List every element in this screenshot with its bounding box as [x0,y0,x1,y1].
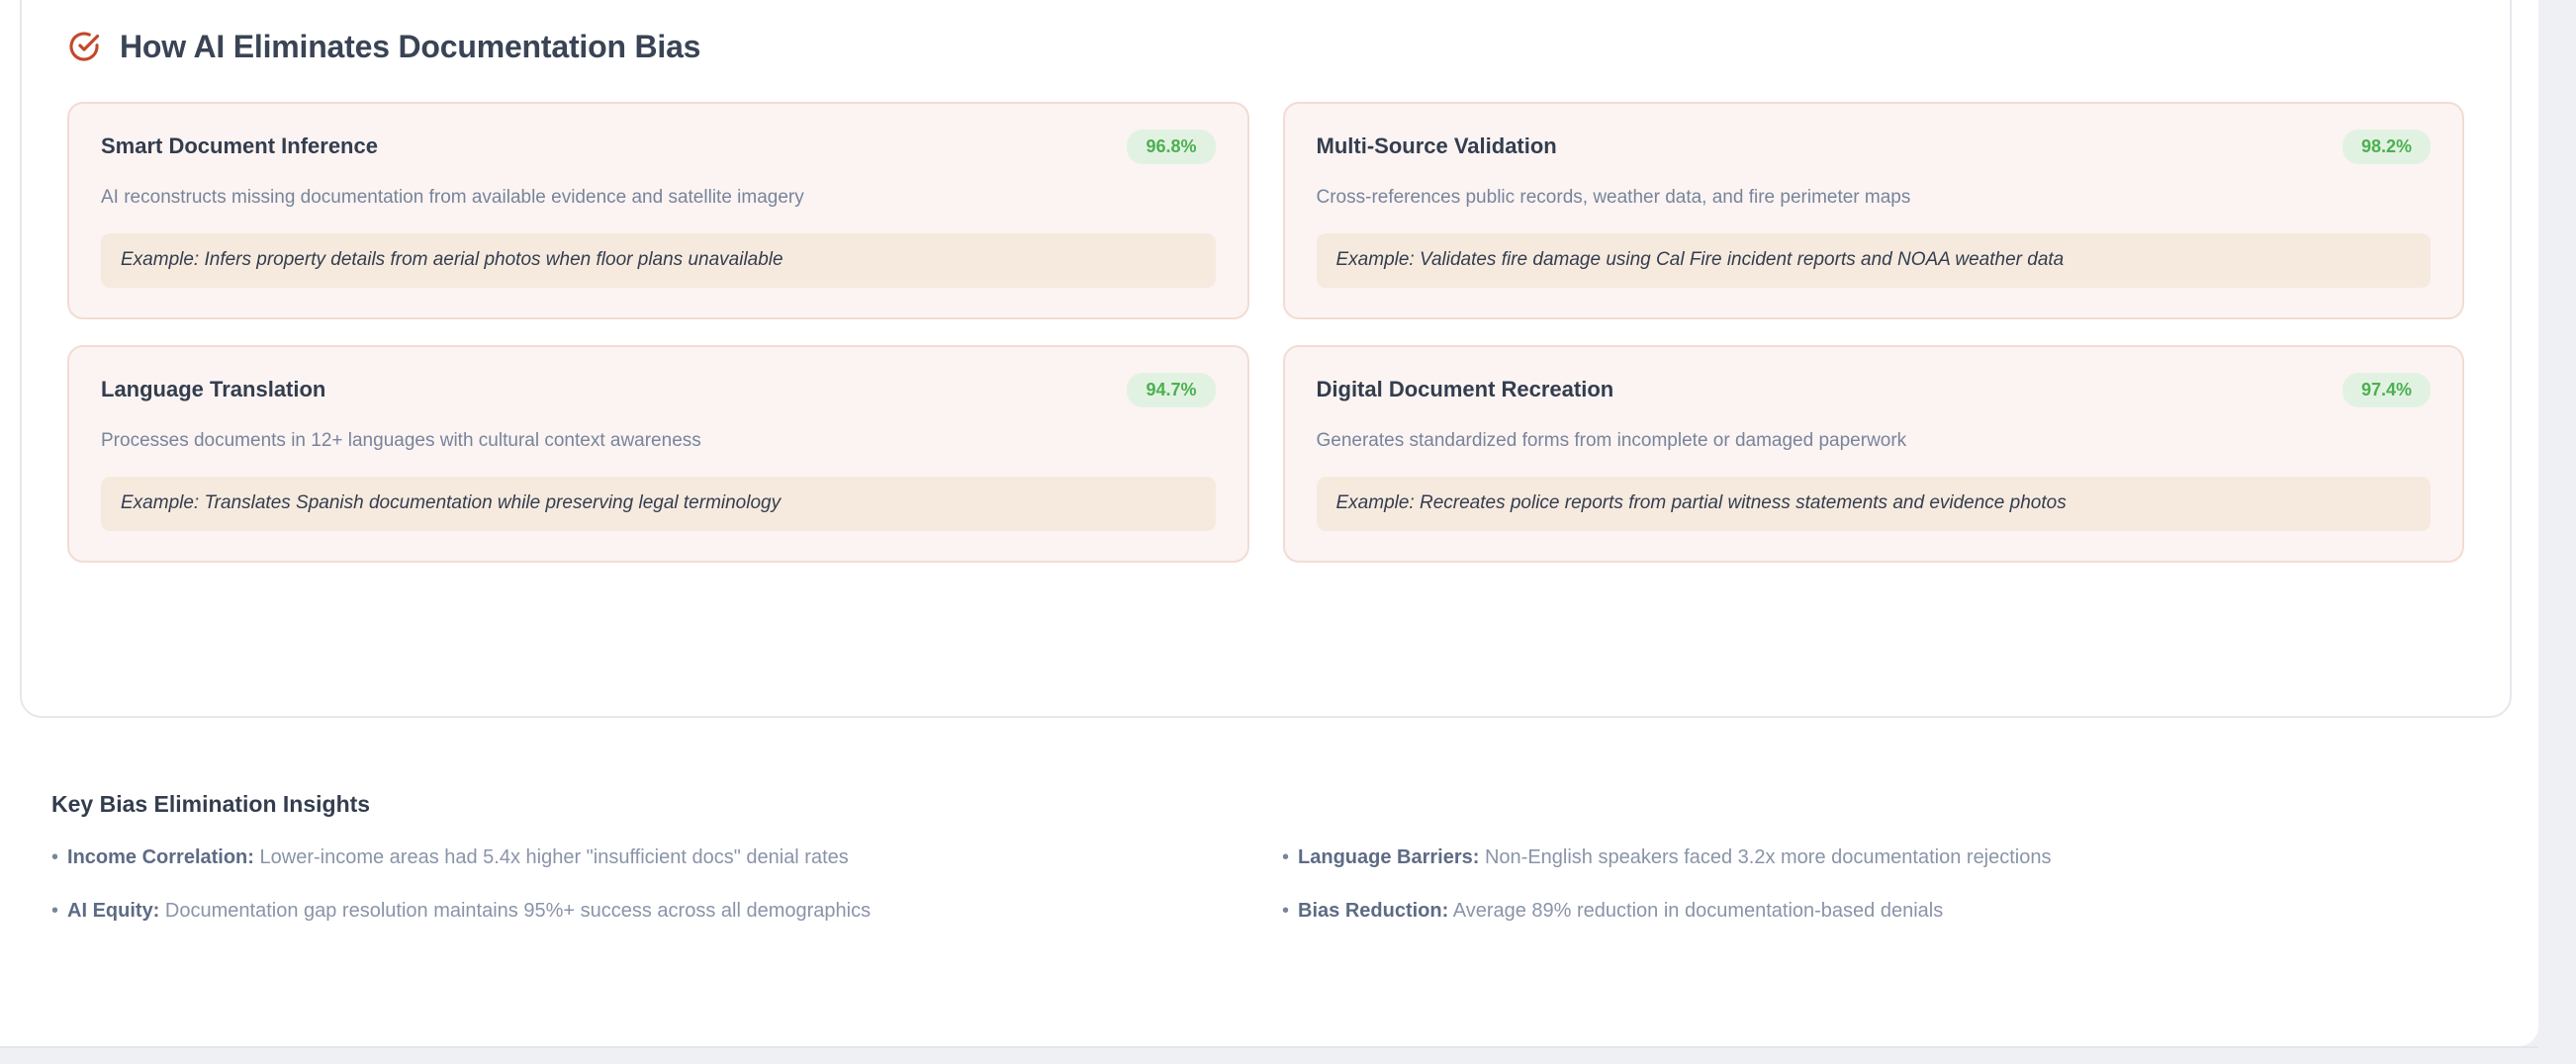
insight-label: AI Equity: [67,900,159,922]
bullet-icon: • [51,901,58,921]
feature-card-grid: Smart Document Inference 96.8% AI recons… [67,102,2464,563]
feature-card-digital-document-recreation[interactable]: Digital Document Recreation 97.4% Genera… [1283,345,2465,563]
card-example: Example: Infers property details from ae… [101,233,1216,288]
card-description: Processes documents in 12+ languages wit… [101,428,1216,454]
bullet-icon: • [1282,901,1289,921]
score-badge: 96.8% [1127,130,1215,164]
card-title: Smart Document Inference [101,134,378,158]
insight-item-language-barriers: • Language Barriers: Non-English speaker… [1282,844,2485,870]
insight-label: Language Barriers: [1298,846,1479,868]
circle-check-icon [67,30,101,63]
panel-header: How AI Eliminates Documentation Bias [67,30,2464,63]
feature-card-multi-source-validation[interactable]: Multi-Source Validation 98.2% Cross-refe… [1283,102,2465,319]
card-description: Cross-references public records, weather… [1317,185,2432,211]
insight-item-ai-equity: • AI Equity: Documentation gap resolutio… [51,898,1254,924]
insight-label: Income Correlation: [67,846,254,868]
card-header: Digital Document Recreation 97.4% [1317,373,2432,407]
insight-label: Bias Reduction: [1298,900,1448,922]
card-description: AI reconstructs missing documentation fr… [101,185,1216,211]
insights-grid: • Income Correlation: Lower-income areas… [51,844,2485,924]
card-title: Digital Document Recreation [1317,378,1614,401]
score-badge: 94.7% [1127,373,1215,407]
bottom-divider [0,1046,2538,1048]
card-example: Example: Validates fire damage using Cal… [1317,233,2432,288]
key-insights-section: Key Bias Elimination Insights • Income C… [51,791,2485,924]
bullet-icon: • [51,847,58,867]
insight-text: Lower-income areas had 5.4x higher "insu… [260,846,849,868]
bullet-icon: • [1282,847,1289,867]
insight-text: Non-English speakers faced 3.2x more doc… [1485,846,2052,868]
card-title: Multi-Source Validation [1317,134,1557,158]
score-badge: 98.2% [2343,130,2431,164]
page-title: How AI Eliminates Documentation Bias [120,31,700,62]
card-title: Language Translation [101,378,325,401]
card-description: Generates standardized forms from incomp… [1317,428,2432,454]
card-header: Language Translation 94.7% [101,373,1216,407]
page-sheet: How AI Eliminates Documentation Bias Sma… [0,0,2538,1046]
insight-text: Average 89% reduction in documentation-b… [1453,900,1944,922]
feature-card-language-translation[interactable]: Language Translation 94.7% Processes doc… [67,345,1249,563]
feature-card-smart-document-inference[interactable]: Smart Document Inference 96.8% AI recons… [67,102,1249,319]
insights-title: Key Bias Elimination Insights [51,791,2485,818]
score-badge: 97.4% [2343,373,2431,407]
card-example: Example: Recreates police reports from p… [1317,477,2432,531]
card-header: Multi-Source Validation 98.2% [1317,130,2432,164]
insight-item-income-correlation: • Income Correlation: Lower-income areas… [51,844,1254,870]
insight-text: Documentation gap resolution maintains 9… [165,900,871,922]
insight-item-bias-reduction: • Bias Reduction: Average 89% reduction … [1282,898,2485,924]
bias-elimination-panel: How AI Eliminates Documentation Bias Sma… [20,0,2512,718]
card-example: Example: Translates Spanish documentatio… [101,477,1216,531]
card-header: Smart Document Inference 96.8% [101,130,1216,164]
